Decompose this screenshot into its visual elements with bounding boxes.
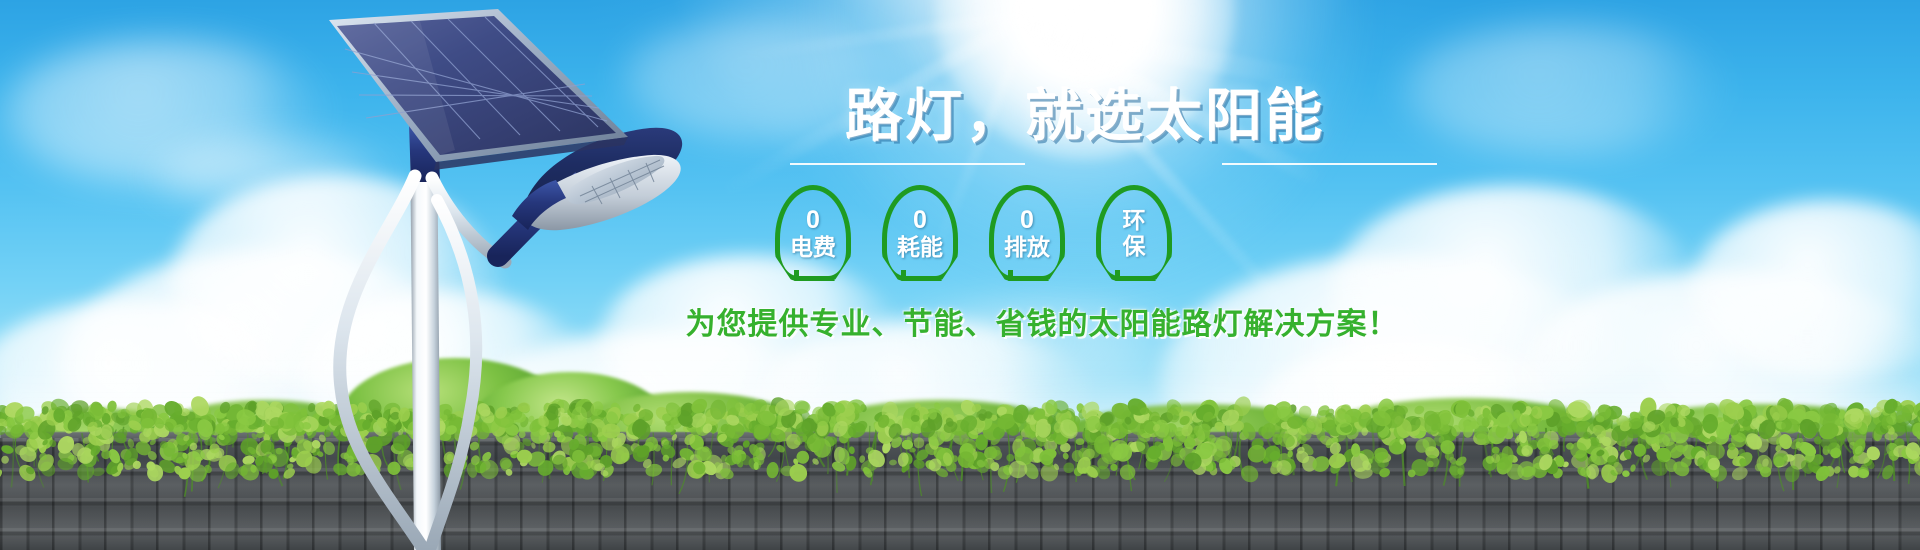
lamp-led-panel	[567, 156, 665, 204]
feature-badges: 0 电费 0 耗能 0 排放 环 保	[735, 185, 1435, 281]
solar-panel-frame	[329, 9, 628, 162]
feature-badge-electricity-fee: 0 电费	[771, 185, 855, 281]
lamp-cooling-fins	[556, 173, 661, 200]
lamp-arm	[498, 198, 558, 256]
solar-panel	[329, 9, 628, 170]
badge-top-text: 环	[1123, 209, 1146, 232]
wall-row-pattern	[0, 438, 1920, 550]
badge-bottom-text: 保	[1123, 235, 1146, 258]
feature-badge-eco-friendly: 环 保	[1092, 185, 1176, 281]
headline: 路灯，就选太阳能	[735, 86, 1435, 148]
divider-rule-right	[1222, 163, 1437, 165]
badge-top-text: 0	[806, 208, 820, 233]
divider	[735, 155, 1435, 171]
badge-bottom-text: 电费	[790, 236, 836, 259]
cloud	[1690, 200, 1920, 380]
lamp-led-grid	[580, 160, 664, 204]
solar-panel-cell-grid	[345, 17, 607, 139]
badge-top-text: 0	[1020, 208, 1034, 233]
lamp-head-top-shell	[526, 128, 682, 215]
solar-panel-edge	[434, 137, 628, 170]
solar-street-light-banner: 路灯，就选太阳能 0 电费 0 耗能 0 排放	[0, 0, 1920, 550]
lamp-mount-bracket	[512, 180, 566, 230]
tagline-text: 为您提供专业、节能、省钱的太阳能路灯解决方案！	[627, 299, 1457, 343]
badge-bottom-text: 耗能	[897, 236, 943, 259]
cloud	[150, 140, 410, 210]
pole-arm-upper	[432, 178, 505, 262]
solar-panel-highlight	[337, 21, 455, 155]
cloud	[1400, 25, 1730, 155]
cloud	[170, 175, 500, 390]
badge-top-text: 0	[913, 208, 927, 233]
solar-panel-glass	[337, 16, 616, 155]
feature-badge-energy-consumption: 0 耗能	[878, 185, 962, 281]
feature-badge-emissions: 0 排放	[985, 185, 1069, 281]
led-street-lamp-head	[512, 128, 682, 231]
headline-text: 路灯，就选太阳能	[735, 86, 1435, 146]
lamp-head-lower-housing	[523, 155, 680, 230]
tiled-garden-wall	[0, 438, 1920, 550]
divider-rule-left	[790, 163, 1025, 165]
banner-copy: 路灯，就选太阳能 0 电费 0 耗能 0 排放	[735, 86, 1435, 343]
badge-bottom-text: 排放	[1004, 236, 1050, 259]
cloud	[0, 40, 330, 185]
pole-collar	[409, 125, 440, 182]
